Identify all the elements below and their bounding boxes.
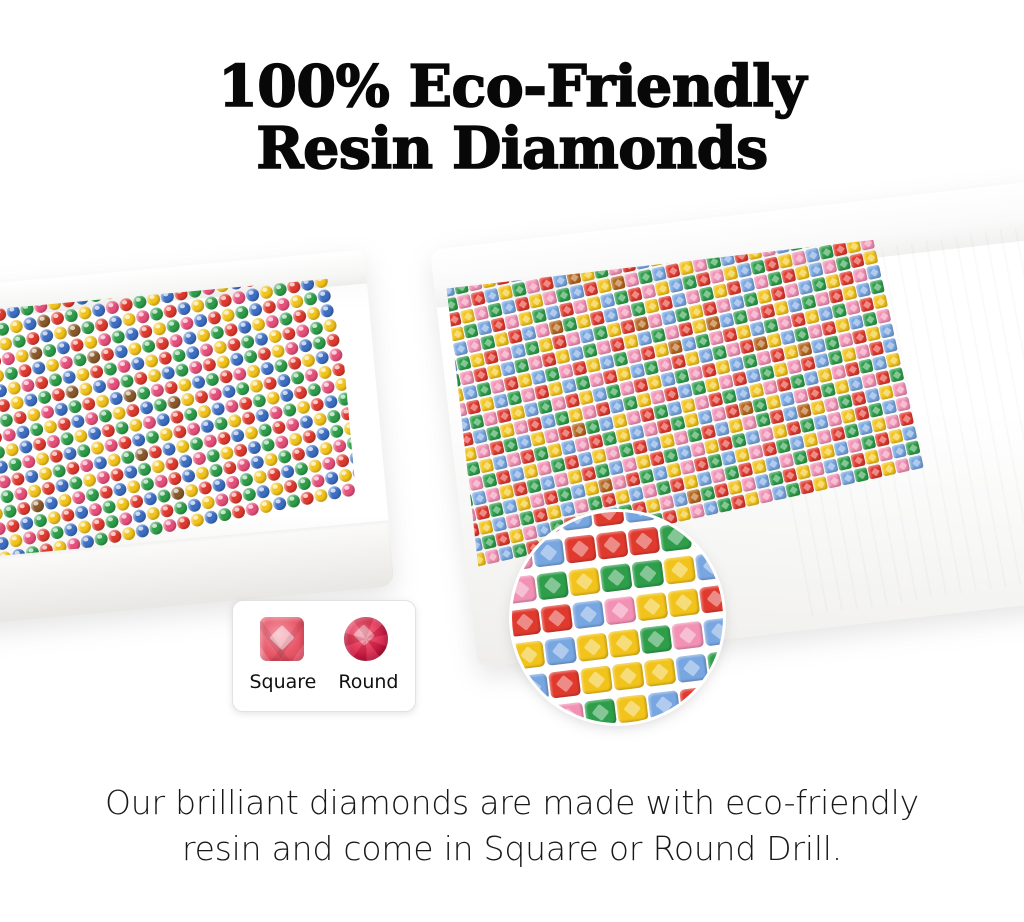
round-drill [286, 494, 301, 509]
round-drill [248, 302, 263, 317]
round-drill [46, 434, 61, 449]
round-drill [221, 308, 236, 323]
round-drill [40, 405, 55, 420]
round-drill [94, 532, 109, 547]
round-drill [335, 453, 350, 468]
round-drill [148, 444, 163, 459]
magnifier-inset [512, 512, 723, 723]
round-drill [270, 482, 285, 497]
round-drill [143, 491, 158, 506]
round-drill [307, 382, 322, 397]
round-drill [176, 439, 191, 454]
round-drill [102, 499, 117, 514]
round-drill [129, 418, 144, 433]
round-drill [291, 447, 306, 462]
round-drill [114, 344, 129, 359]
round-drill [238, 320, 253, 335]
round-drill [217, 431, 232, 446]
round-drill [33, 513, 48, 528]
square-drill [632, 559, 665, 588]
round-drill [233, 367, 248, 382]
round-drill [56, 340, 71, 355]
round-drill [82, 396, 97, 411]
round-drill [294, 461, 309, 476]
round-drill [106, 376, 121, 391]
round-drill [181, 392, 196, 407]
round-drill [8, 457, 23, 472]
round-drill [72, 490, 87, 505]
square-drill [659, 522, 692, 551]
round-drill [210, 325, 225, 340]
square-drill [628, 526, 661, 555]
round-drill [109, 391, 124, 406]
square-drill [684, 719, 717, 723]
round-drill [329, 347, 344, 362]
round-drill [140, 477, 155, 492]
round-drill [283, 403, 298, 418]
round-drill [16, 425, 31, 440]
round-drill [252, 393, 267, 408]
round-drill [5, 442, 20, 457]
round-drill [24, 393, 39, 408]
round-drill [317, 289, 332, 304]
round-drill [201, 495, 216, 510]
square-drill [707, 649, 723, 678]
square-drill [517, 673, 550, 702]
round-drill [157, 489, 172, 504]
round-drill-icon [344, 617, 388, 661]
headline-line-2: Resin Diamonds [0, 118, 1024, 180]
round-drill [19, 439, 34, 454]
round-drill [132, 509, 147, 524]
round-drill [193, 313, 208, 328]
round-drill [288, 356, 303, 371]
round-drill [230, 352, 245, 367]
round-drill [150, 383, 165, 398]
round-drill [39, 328, 54, 343]
round-drill [79, 458, 94, 473]
round-drill [192, 451, 207, 466]
round-drill [219, 369, 234, 384]
round-drill [240, 334, 255, 349]
round-drill [273, 282, 288, 297]
round-drill [267, 467, 282, 482]
square-drill [604, 595, 637, 624]
round-drill [44, 496, 59, 511]
square-drill [572, 599, 605, 628]
square-drill [612, 661, 645, 690]
round-drill [126, 479, 141, 494]
round-drill [142, 415, 157, 430]
round-drill [88, 502, 103, 517]
round-drill [269, 405, 284, 420]
round-drill [264, 452, 279, 467]
round-drill [122, 312, 137, 327]
square-drill [544, 636, 577, 665]
square-drill [883, 338, 899, 354]
round-drill [258, 423, 273, 438]
round-drill [45, 358, 60, 373]
round-drill [68, 399, 83, 414]
square-drill [512, 542, 534, 571]
square-drill [667, 588, 700, 617]
round-drill [149, 521, 164, 536]
round-drill [255, 408, 270, 423]
round-drill [50, 525, 65, 540]
square-drill [876, 308, 892, 324]
round-drill-rows [0, 278, 359, 561]
round-drill [186, 345, 201, 360]
round-drill [283, 479, 298, 494]
round-drill [121, 526, 136, 541]
round-drill [49, 449, 64, 464]
square-drill [608, 628, 641, 657]
round-drill [231, 428, 246, 443]
round-drill [274, 358, 289, 373]
square-drill [512, 512, 530, 538]
round-drill [254, 332, 269, 347]
square-drill [655, 512, 688, 519]
round-drill [186, 422, 201, 437]
round-drill [103, 362, 118, 377]
square-drill [711, 682, 723, 711]
round-drill [111, 329, 126, 344]
round-drill [47, 510, 62, 525]
round-drill [121, 450, 136, 465]
round-drill [156, 412, 171, 427]
round-drill [257, 346, 272, 361]
square-drill [580, 665, 613, 694]
square-drill [889, 367, 905, 383]
round-drill [131, 356, 146, 371]
round-drill [321, 380, 336, 395]
round-drill [173, 501, 188, 516]
round-drill [197, 404, 212, 419]
round-drill [22, 454, 37, 469]
round-drill [12, 334, 27, 349]
round-drill [314, 278, 329, 289]
round-drill [82, 473, 97, 488]
round-drill [90, 441, 105, 456]
round-drill [180, 316, 195, 331]
round-drill [285, 341, 300, 356]
square-drill [873, 294, 889, 310]
round-drill [300, 278, 315, 292]
square-drill [687, 512, 720, 515]
round-drill [325, 471, 340, 486]
square-drill [640, 624, 673, 653]
round-drill [149, 307, 164, 322]
round-drill [194, 389, 209, 404]
round-drill [65, 384, 80, 399]
round-drill [275, 435, 290, 450]
round-drill [327, 485, 342, 500]
round-drill [87, 426, 102, 441]
round-drill [23, 316, 38, 331]
round-drill [195, 466, 210, 481]
round-drill [37, 390, 52, 405]
round-drill [112, 406, 127, 421]
round-drill [178, 377, 193, 392]
round-drill [298, 338, 313, 353]
product-infographic: 100% Eco-Friendly Resin Diamonds Square … [0, 0, 1024, 922]
square-drill [863, 250, 879, 266]
round-drill [139, 324, 154, 339]
round-drill [215, 492, 230, 507]
round-drill [304, 368, 319, 383]
round-drill [259, 499, 274, 514]
round-drill [245, 502, 260, 517]
round-drill [225, 399, 240, 414]
round-drill [0, 336, 14, 351]
round-drill [259, 285, 274, 300]
round-drill [14, 486, 29, 501]
round-drill [261, 437, 276, 452]
square-drill [902, 426, 918, 442]
round-drill [55, 478, 70, 493]
square-drill [447, 467, 454, 483]
round-drill [87, 350, 102, 365]
square-drill [624, 512, 657, 523]
round-drill [63, 446, 78, 461]
round-drill [178, 454, 193, 469]
round-drill [0, 413, 14, 428]
square-drill [679, 686, 712, 715]
round-drill [312, 335, 327, 350]
round-drill [285, 417, 300, 432]
round-drill [119, 511, 134, 526]
round-drill [154, 474, 169, 489]
round-drill [253, 470, 268, 485]
round-drill [207, 310, 222, 325]
legend-swatches [233, 617, 415, 661]
round-drill [211, 401, 226, 416]
round-drill [278, 449, 293, 464]
round-drill [265, 314, 280, 329]
square-drill [447, 482, 457, 498]
round-drill [271, 344, 286, 359]
round-drill [50, 311, 65, 326]
headline-line-1: 100% Eco-Friendly [0, 56, 1024, 118]
round-drill [243, 349, 258, 364]
round-drill [183, 331, 198, 346]
round-drill [79, 382, 94, 397]
round-drill [91, 303, 106, 318]
round-drill [297, 476, 312, 491]
square-drill [540, 603, 573, 632]
round-drill [93, 455, 108, 470]
round-drill [203, 434, 218, 449]
round-drill [196, 328, 211, 343]
round-drill [74, 429, 89, 444]
round-drill [92, 379, 107, 394]
round-drill [216, 355, 231, 370]
round-drill [153, 398, 168, 413]
round-drill [7, 381, 22, 396]
round-drill [293, 309, 308, 324]
round-drill [299, 415, 314, 430]
round-drill [119, 297, 134, 312]
round-drill-tray [0, 249, 394, 624]
round-drill [280, 388, 295, 403]
round-drill [126, 403, 141, 418]
square-drill [584, 698, 617, 723]
square-drill [695, 551, 723, 580]
square-drill [675, 653, 708, 682]
round-drill [59, 355, 74, 370]
round-drill [224, 322, 239, 337]
round-drill [60, 431, 75, 446]
drill-type-legend: Square Round [232, 600, 416, 712]
round-drill [128, 341, 143, 356]
round-drill [320, 303, 335, 318]
round-drill [30, 498, 45, 513]
round-drill [71, 414, 86, 429]
round-drill [168, 471, 183, 486]
round-drill [48, 372, 63, 387]
round-drill [313, 412, 328, 427]
square-drill [866, 265, 882, 281]
round-drill [145, 430, 160, 445]
round-drill [202, 357, 217, 372]
round-drill [176, 515, 191, 530]
round-drill [165, 456, 180, 471]
round-drill [4, 366, 19, 381]
round-drill [295, 324, 310, 339]
round-drill [235, 381, 250, 396]
round-drill [76, 367, 91, 382]
round-drill [189, 436, 204, 451]
round-drill [42, 343, 57, 358]
round-drill [162, 442, 177, 457]
round-drill [136, 386, 151, 401]
square-drill [879, 323, 895, 339]
round-drill [306, 306, 321, 321]
round-drill [303, 291, 318, 306]
round-drill [120, 374, 135, 389]
round-drill [287, 279, 302, 294]
round-drill [190, 513, 205, 528]
round-drill [161, 365, 176, 380]
round-drill [105, 514, 120, 529]
round-drill [323, 318, 338, 333]
round-drill [228, 413, 243, 428]
round-drill [239, 472, 254, 487]
round-drill [218, 293, 233, 308]
round-drill [273, 496, 288, 511]
round-drill [17, 501, 32, 516]
round-drill [27, 407, 42, 422]
round-drill [110, 467, 125, 482]
round-drill [27, 484, 42, 499]
round-drill [85, 487, 100, 502]
round-drill [53, 326, 68, 341]
round-drill [318, 365, 333, 380]
round-drill [280, 464, 295, 479]
round-drill [34, 375, 49, 390]
square-drill [886, 352, 902, 368]
square-drill [528, 512, 561, 534]
round-drill [238, 396, 253, 411]
round-drill [341, 483, 356, 498]
square-drill [636, 592, 669, 621]
square-drill [447, 452, 451, 468]
round-drill [169, 333, 184, 348]
round-drill [226, 475, 241, 490]
round-drill [167, 395, 182, 410]
round-drill [96, 470, 111, 485]
square-drill [715, 715, 723, 723]
round-drill [133, 295, 148, 310]
round-drill [184, 483, 199, 498]
round-drill [222, 384, 237, 399]
round-drill [29, 346, 44, 361]
round-drill [311, 473, 326, 488]
round-drill [214, 416, 229, 431]
round-drill [97, 332, 112, 347]
round-drill [338, 468, 353, 483]
round-drill [137, 462, 152, 477]
round-drill [62, 370, 77, 385]
round-drill [209, 463, 224, 478]
round-drill [134, 447, 149, 462]
square-drill [892, 382, 908, 398]
square-drill [532, 538, 565, 567]
round-drill [152, 321, 167, 336]
round-drill [188, 360, 203, 375]
round-drill [199, 343, 214, 358]
round-drill [163, 304, 178, 319]
round-drill [233, 443, 248, 458]
round-drill [64, 522, 79, 537]
round-drill [268, 329, 283, 344]
round-drill [52, 463, 67, 478]
round-drill [0, 489, 15, 504]
round-drill [242, 487, 257, 502]
round-drill [319, 441, 334, 456]
square-drill [536, 571, 569, 600]
round-drill [124, 465, 139, 480]
round-drill [41, 481, 56, 496]
caption-line-1: Our brilliant diamonds are made with eco… [0, 780, 1024, 826]
square-drill [905, 440, 921, 456]
round-drill [15, 348, 30, 363]
legend-label-round: Round [338, 671, 398, 693]
round-drill [227, 337, 242, 352]
caption-line-2: resin and come in Square or Round Drill. [0, 826, 1024, 872]
square-drill-icon [260, 617, 304, 661]
square-drill [691, 518, 723, 547]
round-drill [327, 409, 342, 424]
round-drill [18, 363, 33, 378]
round-drill [73, 352, 88, 367]
round-drill [316, 427, 331, 442]
round-drill [61, 508, 76, 523]
round-drill [101, 423, 116, 438]
round-drill [36, 528, 51, 543]
round-drill [170, 410, 185, 425]
round-drill [105, 300, 120, 315]
round-drill [332, 438, 347, 453]
page-title: 100% Eco-Friendly Resin Diamonds [0, 56, 1024, 180]
round-drill [35, 451, 50, 466]
square-drill [513, 640, 546, 669]
square-drill [521, 705, 554, 723]
round-drill [173, 424, 188, 439]
round-drill [272, 420, 287, 435]
round-drill [11, 472, 26, 487]
round-drill [91, 517, 106, 532]
